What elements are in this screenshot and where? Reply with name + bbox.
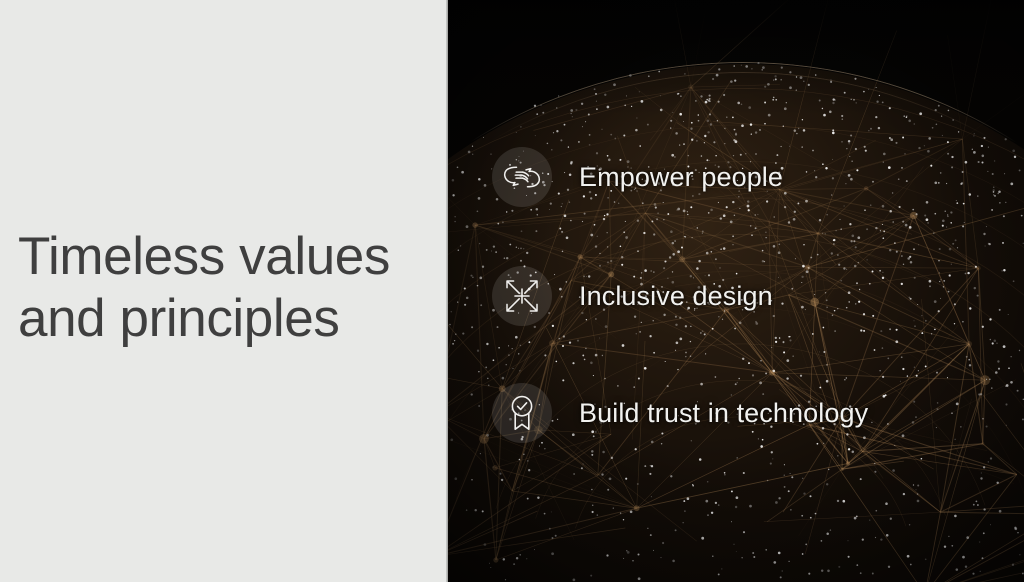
converge-arrows-icon <box>492 266 552 326</box>
value-row-build-trust[interactable]: Build trust in technology <box>492 383 868 443</box>
page-title-line-2: and principles <box>18 288 390 350</box>
value-row-inclusive-design[interactable]: Inclusive design <box>492 266 773 326</box>
value-list: Empower people <box>448 0 1024 582</box>
slide: Timeless values and principles <box>0 0 1024 582</box>
value-label: Inclusive design <box>579 281 773 312</box>
value-label: Empower people <box>579 162 783 193</box>
left-title-panel: Timeless values and principles <box>0 0 448 582</box>
check-badge-ribbon-icon <box>492 383 552 443</box>
value-label: Build trust in technology <box>579 398 868 429</box>
page-title: Timeless values and principles <box>0 226 390 350</box>
page-title-line-1: Timeless values <box>18 226 390 288</box>
right-imagery-panel: Empower people <box>448 0 1024 582</box>
clasping-hands-icon <box>492 147 552 207</box>
value-row-empower-people[interactable]: Empower people <box>492 147 783 207</box>
